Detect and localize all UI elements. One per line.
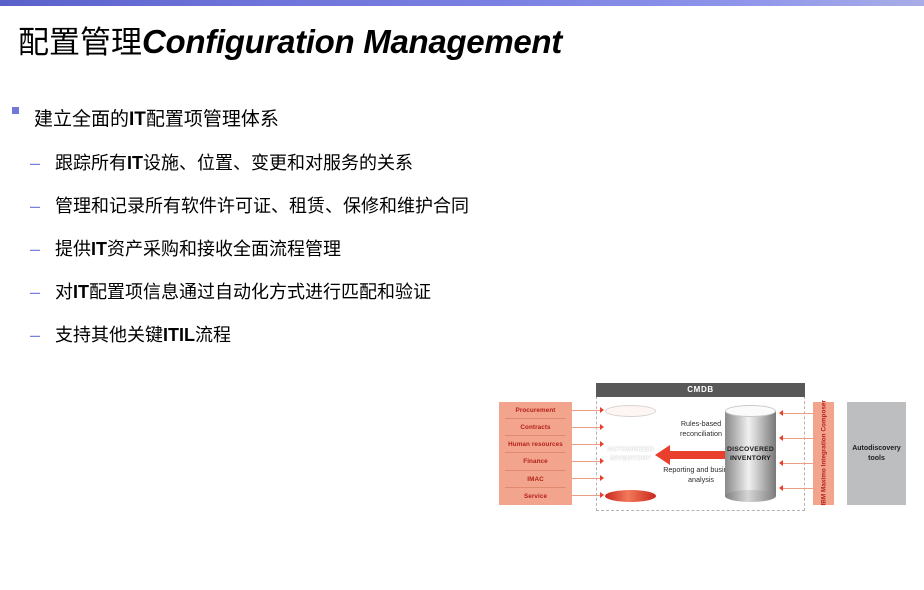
list-item-text: 管理和记录所有软件许可证、租赁、保修和维护合同 <box>55 193 469 220</box>
arrow-shaft <box>669 451 733 459</box>
list-item-text: 支持其他关键ITIL流程 <box>55 322 231 349</box>
list-item-bold: IT <box>73 282 89 302</box>
source-row: Finance <box>499 453 572 470</box>
connector-line <box>572 478 602 479</box>
connector-line <box>572 461 602 462</box>
sub-bullet-list: – 跟踪所有IT设施、位置、变更和对服务的关系 – 管理和记录所有软件许可证、租… <box>30 150 710 365</box>
source-row: IMAC <box>499 471 572 488</box>
list-item: – 跟踪所有IT设施、位置、变更和对服务的关系 <box>30 150 710 193</box>
connector-arrow-icon <box>779 410 783 416</box>
connector-arrow-icon <box>600 441 604 447</box>
list-item-suffix: 设施、位置、变更和对服务的关系 <box>143 153 413 174</box>
page-title-english: Configuration Management <box>142 23 562 60</box>
connector-arrow-icon <box>600 492 604 498</box>
bullet-square-icon <box>12 107 19 114</box>
dash-icon: – <box>30 322 44 348</box>
list-item-suffix: 配置项信息通过自动化方式进行匹配和验证 <box>89 282 431 303</box>
cylinder-bottom <box>605 490 656 502</box>
connector-line <box>783 413 814 414</box>
connector-line <box>783 488 814 489</box>
main-bullet-suffix: 配置项管理体系 <box>146 108 279 130</box>
list-item-bold: ITIL <box>163 325 195 345</box>
dash-icon: – <box>30 150 44 176</box>
cmdb-header-label: CMDB <box>596 383 805 397</box>
page-title: 配置管理Configuration Management <box>18 22 562 63</box>
discovered-inventory-cylinder: DISCOVERED INVENTORY <box>725 405 776 502</box>
list-item: – 对IT配置项信息通过自动化方式进行匹配和验证 <box>30 279 710 322</box>
main-bullet-prefix: 建立全面的 <box>34 108 129 130</box>
slide-canvas: 配置管理Configuration Management 建立全面的IT配置项管… <box>0 0 924 590</box>
arrow-head-left <box>655 445 670 465</box>
list-item-suffix: 流程 <box>195 325 231 346</box>
connector-arrow-icon <box>600 424 604 430</box>
cylinder-label-line1: AUTHORIZED <box>607 446 654 453</box>
dash-icon: – <box>30 193 44 219</box>
authorized-inventory-cylinder: AUTHORIZED INVENTORY <box>605 405 656 502</box>
page-title-chinese: 配置管理 <box>18 25 142 61</box>
autodiscovery-tools-panel: Autodiscovery tools <box>847 402 906 505</box>
connector-line <box>783 463 814 464</box>
list-item-text: 提供IT资产采购和接收全面流程管理 <box>55 236 341 263</box>
connector-arrow-icon <box>600 407 604 413</box>
cylinder-label: AUTHORIZED INVENTORY <box>605 445 656 463</box>
cylinder-top <box>605 405 656 417</box>
list-item-bold: IT <box>91 239 107 259</box>
list-item: – 管理和记录所有软件许可证、租赁、保修和维护合同 <box>30 193 710 236</box>
list-item-suffix: 资产采购和接收全面流程管理 <box>107 239 341 260</box>
connector-line <box>572 495 602 496</box>
source-systems-panel: Procurement Contracts Human resources Fi… <box>499 402 572 505</box>
dash-icon: – <box>30 279 44 305</box>
connector-arrow-icon <box>779 485 783 491</box>
list-item: – 提供IT资产采购和接收全面流程管理 <box>30 236 710 279</box>
list-item: – 支持其他关键ITIL流程 <box>30 322 710 365</box>
source-row: Procurement <box>499 402 572 419</box>
main-bullet-text: 建立全面的IT配置项管理体系 <box>34 106 279 133</box>
connector-arrow-icon <box>779 435 783 441</box>
source-row: Contracts <box>499 419 572 436</box>
maximo-integration-composer-strip: IBM Maximo Integration Composer <box>813 402 834 505</box>
source-row: Human resources <box>499 436 572 453</box>
connector-line <box>572 410 602 411</box>
cylinder-label-line2: INVENTORY <box>610 455 651 462</box>
list-item-prefix: 支持其他关键 <box>55 325 163 346</box>
connector-arrow-icon <box>600 458 604 464</box>
list-item-text: 对IT配置项信息通过自动化方式进行匹配和验证 <box>55 279 431 306</box>
cylinder-label: DISCOVERED INVENTORY <box>725 445 776 463</box>
autodiscovery-label: Autodiscovery tools <box>847 444 906 464</box>
source-row: Service <box>499 488 572 505</box>
list-item-text: 跟踪所有IT设施、位置、变更和对服务的关系 <box>55 150 413 177</box>
cylinder-label-line1: DISCOVERED <box>727 446 774 453</box>
connector-line <box>572 444 602 445</box>
list-item-prefix: 管理和记录所有软件许可证、租赁、保修和维护合同 <box>55 196 469 217</box>
cylinder-label-line2: INVENTORY <box>730 455 771 462</box>
cmdb-architecture-diagram: CMDB Procurement Contracts Human resourc… <box>495 383 907 511</box>
list-item-prefix: 对 <box>55 282 73 303</box>
list-item-prefix: 提供 <box>55 239 91 260</box>
maximo-label: IBM Maximo Integration Composer <box>819 402 828 505</box>
list-item-prefix: 跟踪所有 <box>55 153 127 174</box>
top-accent-bar <box>0 0 924 6</box>
cylinder-bottom <box>725 490 776 502</box>
cylinder-top <box>725 405 776 417</box>
connector-line <box>572 427 602 428</box>
connector-arrow-icon <box>600 475 604 481</box>
main-bullet-bold: IT <box>129 109 146 130</box>
connector-arrow-icon <box>779 460 783 466</box>
list-item-bold: IT <box>127 153 143 173</box>
dash-icon: – <box>30 236 44 262</box>
connector-line <box>783 438 814 439</box>
